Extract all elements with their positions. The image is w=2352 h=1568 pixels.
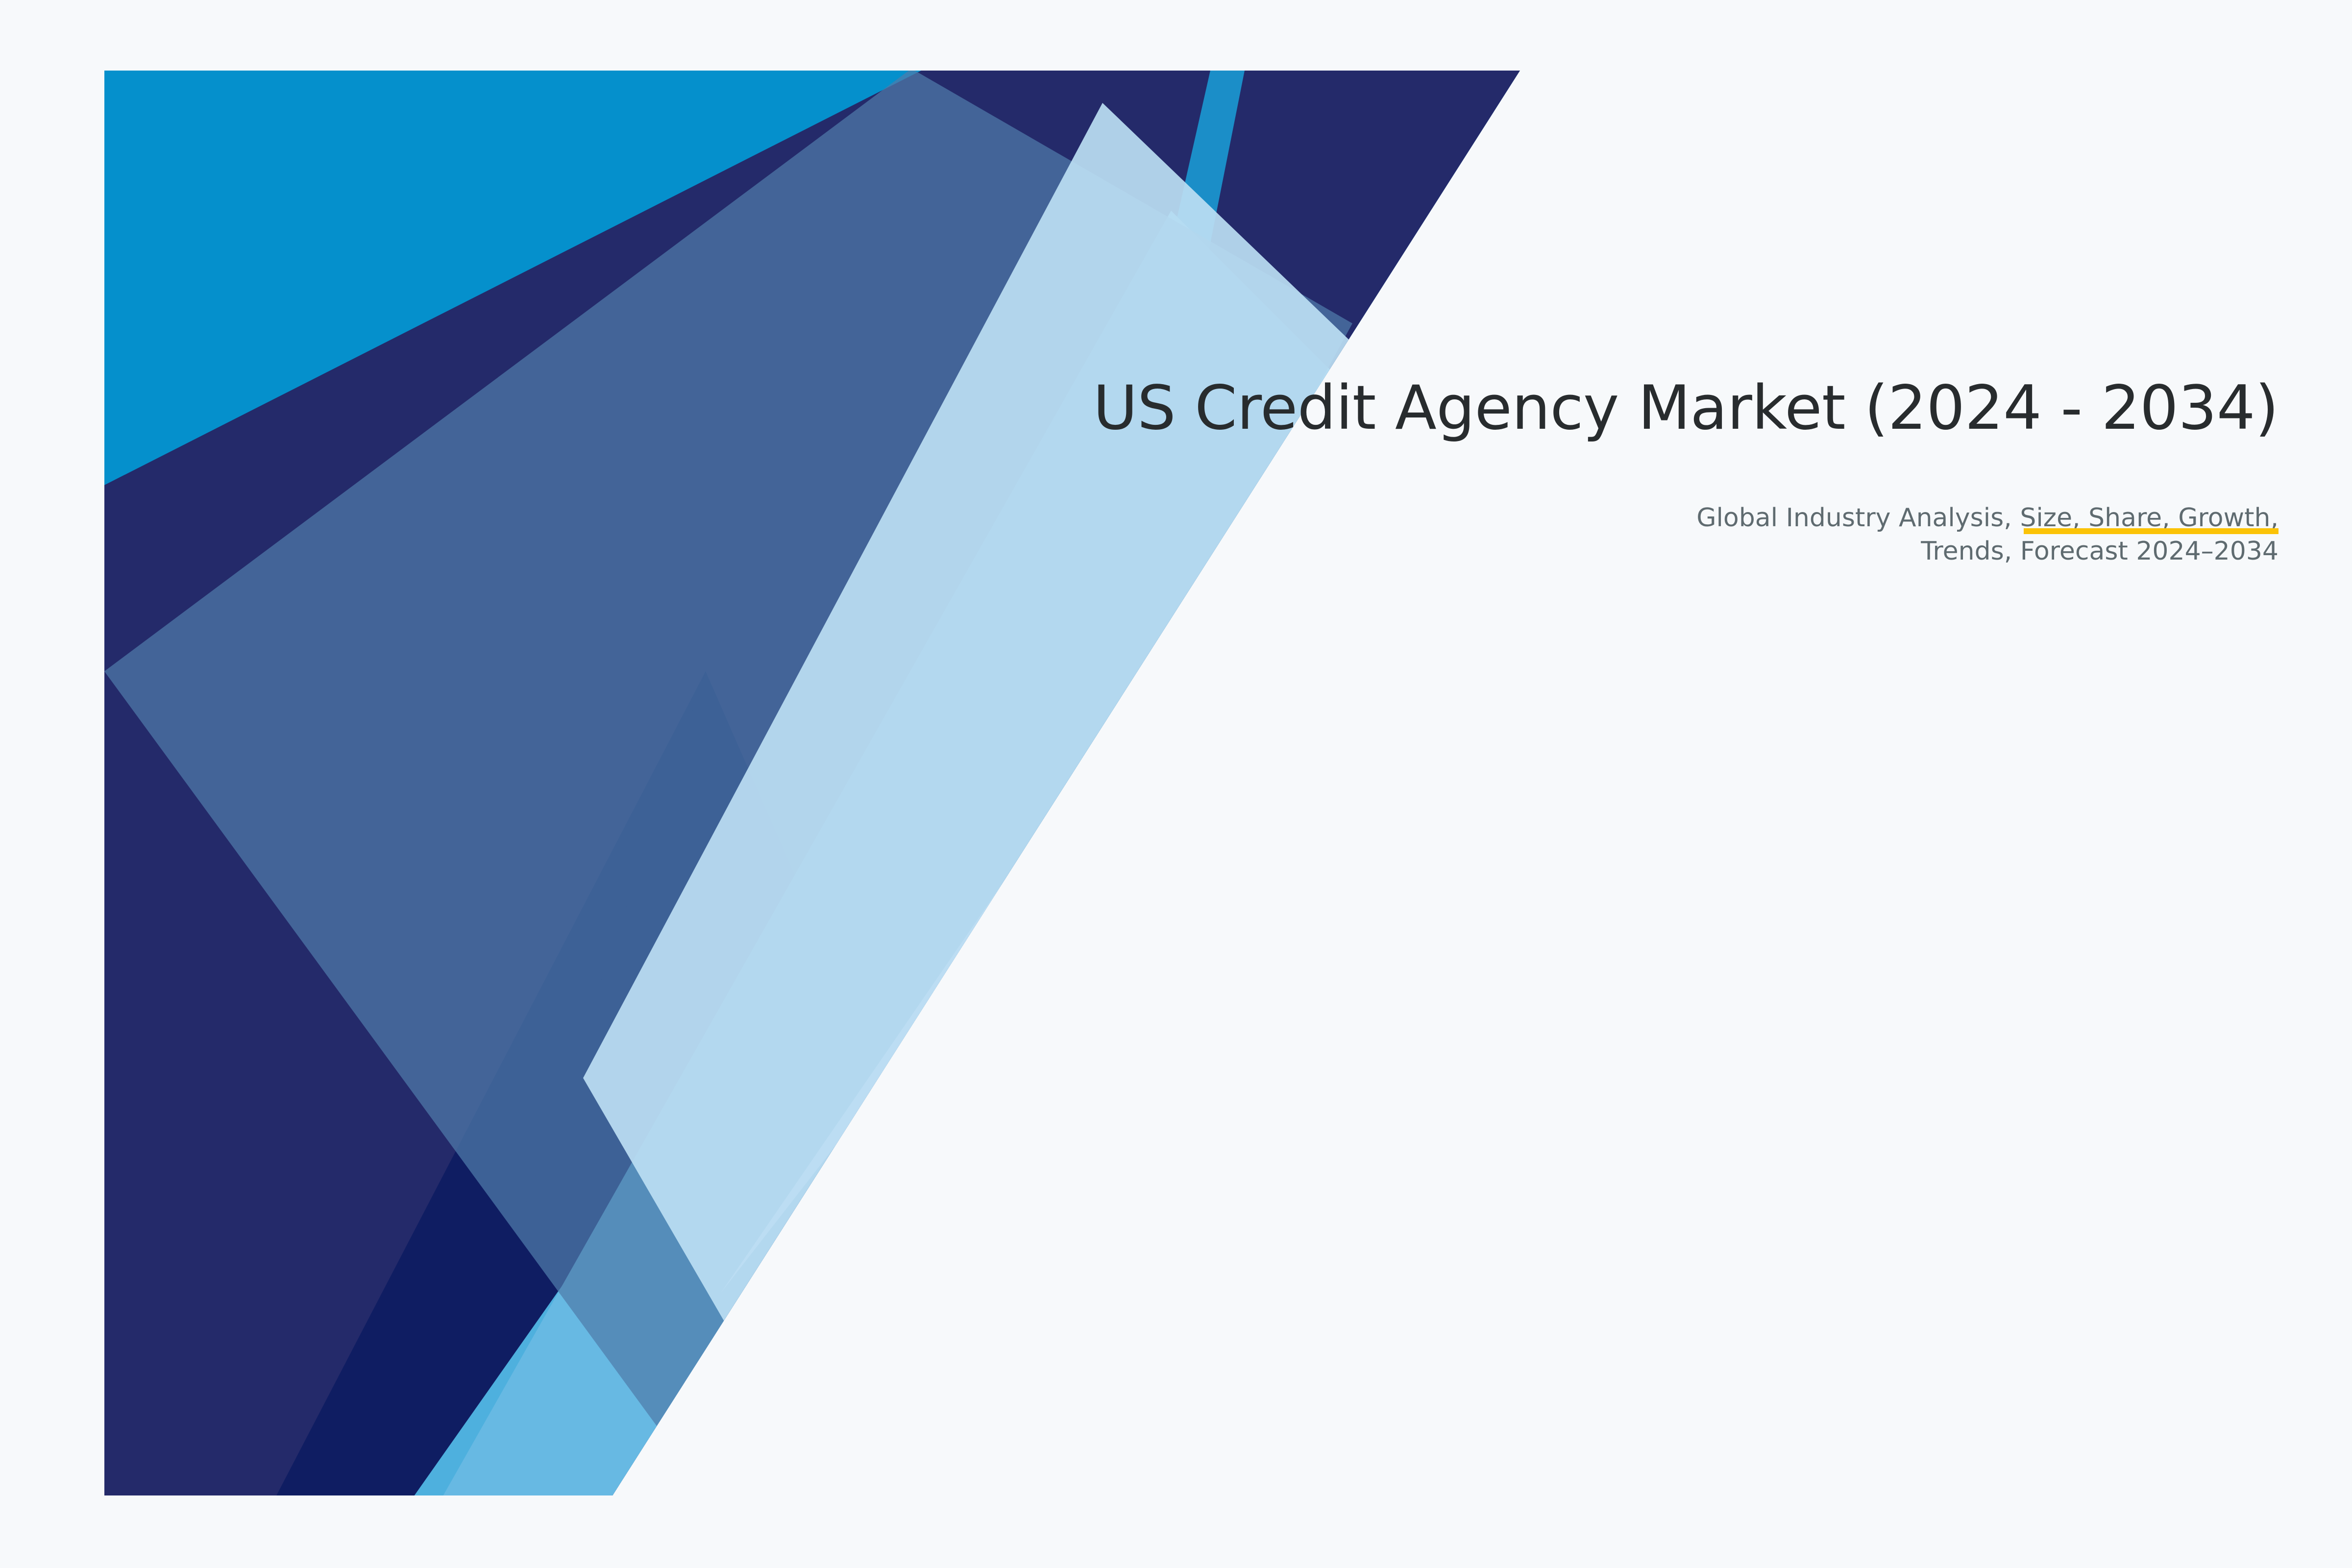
report-cover-slide: US Credit Agency Market (2024 - 2034) Gl… xyxy=(0,0,2352,1568)
page-subtitle: Global Industry Analysis, Size, Share, G… xyxy=(1646,502,2278,568)
abstract-polygon-graphic xyxy=(0,0,2352,1568)
title-wrapper: US Credit Agency Market (2024 - 2034) xyxy=(1004,372,2278,444)
cover-text-block: US Credit Agency Market (2024 - 2034) Gl… xyxy=(1004,372,2278,568)
page-title: US Credit Agency Market (2024 - 2034) xyxy=(1004,372,2278,444)
title-underline-accent xyxy=(2024,528,2278,534)
